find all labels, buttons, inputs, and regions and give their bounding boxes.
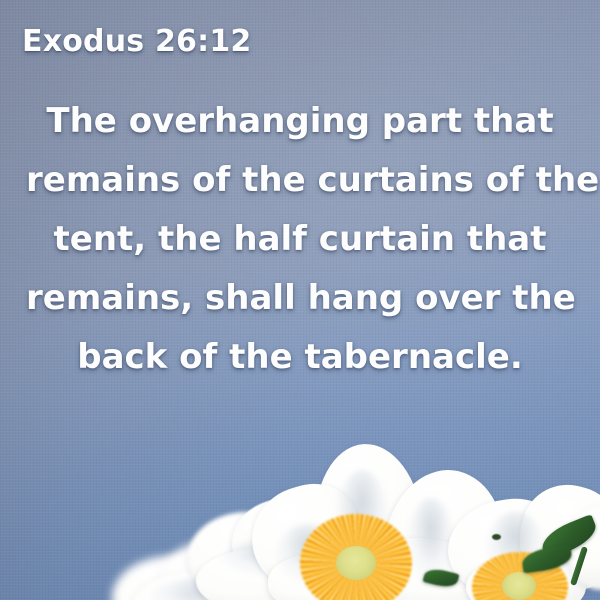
verse-line-5: back of the tabernacle. xyxy=(26,328,574,387)
verse-line-4: remains, shall hang over the xyxy=(26,269,574,328)
verse-reference-title: Exodus 26:12 xyxy=(22,23,251,61)
verse-line-1: The overhanging part that xyxy=(26,92,574,151)
verse-line-3: tent, the half curtain that xyxy=(26,210,574,269)
verse-text: The overhanging part that remains of the… xyxy=(26,92,574,387)
foliage-speck xyxy=(492,534,501,540)
verse-image: Exodus 26:12 The overhanging part that r… xyxy=(0,0,600,600)
verse-line-2: remains of the curtains of the xyxy=(26,151,574,210)
